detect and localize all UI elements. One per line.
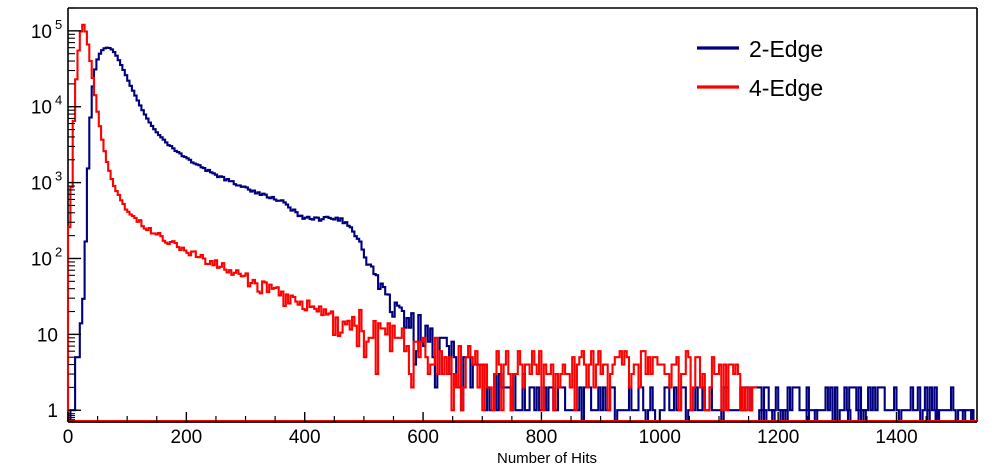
x-tick-label: 1000 [639, 427, 681, 448]
y-tick-exponent: 5 [55, 17, 62, 32]
y-tick-label: 10 [37, 325, 58, 346]
y-tick-exponent: 2 [55, 244, 62, 259]
x-tick-label: 400 [289, 427, 321, 448]
y-tick-label: 10 [31, 174, 52, 195]
x-tick-label: 0 [63, 427, 74, 448]
y-tick-exponent: 4 [55, 93, 62, 108]
x-tick-label: 200 [171, 427, 203, 448]
y-tick-label: 10 [31, 98, 52, 119]
legend-label-4-edge: 4-Edge [749, 75, 823, 101]
x-axis-label: Number of Hits [497, 450, 597, 467]
histogram-plot: 0200400600800100012001400110102103104105… [0, 0, 996, 472]
x-tick-label: 600 [407, 427, 439, 448]
y-tick-label: 1 [47, 401, 58, 422]
x-tick-label: 1400 [875, 427, 917, 448]
x-tick-label: 800 [526, 427, 558, 448]
chart-canvas: 0200400600800100012001400110102103104105… [0, 0, 996, 472]
x-tick-label: 1200 [757, 427, 799, 448]
y-tick-exponent: 3 [55, 169, 62, 184]
y-tick-label: 10 [31, 249, 52, 270]
legend-label-2-edge: 2-Edge [749, 36, 823, 62]
y-tick-label: 10 [31, 22, 52, 43]
